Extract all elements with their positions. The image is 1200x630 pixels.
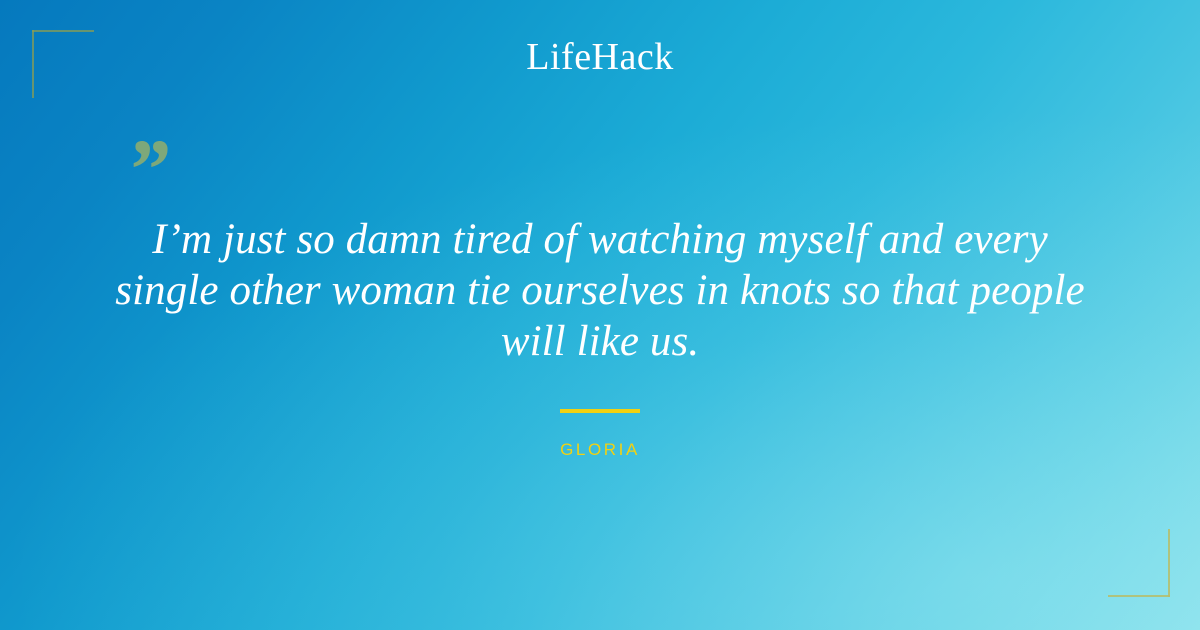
corner-bracket-bottom-right-icon [1108,529,1170,597]
corner-bracket-vertical-rule [1168,529,1170,597]
quote-card: LifeHack ” I’m just so damn tired of wat… [0,0,1200,630]
attribution-divider [560,409,640,413]
quote-attribution: GLORIA [0,440,1200,460]
brand-logo: LifeHack [0,38,1200,76]
corner-bracket-horizontal-rule [32,30,94,32]
corner-bracket-horizontal-rule [1108,595,1170,597]
quote-text: I’m just so damn tired of watching mysel… [100,214,1100,367]
quotation-mark-icon: ” [126,126,169,212]
quote-block: I’m just so damn tired of watching mysel… [100,214,1100,367]
